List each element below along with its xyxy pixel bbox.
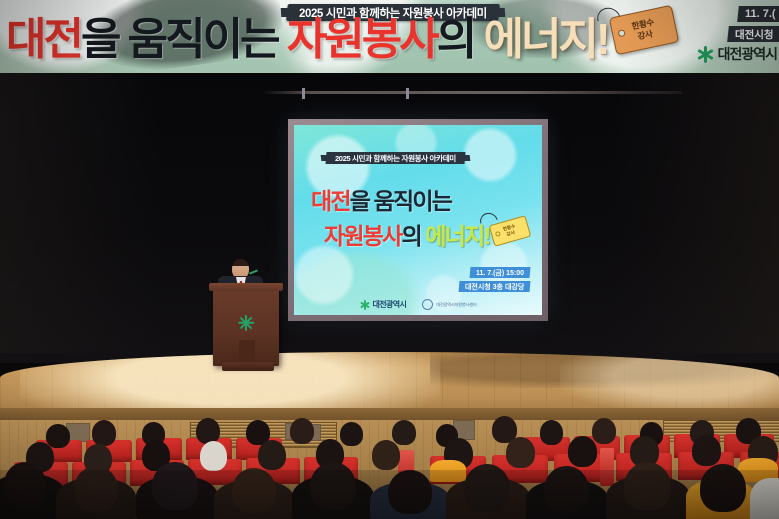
- slide-center-logo: 대전광역시자원봉사센터: [422, 299, 476, 310]
- daejeon-symbol-icon: [360, 300, 370, 310]
- audience-head: [258, 440, 286, 470]
- auditorium-photo: 2025 시민과 함께하는 자원봉사 아카데미 대전을 움직이는 자원봉사의 에…: [0, 0, 779, 519]
- slide-subtitle-text: 2025 시민과 함께하는 자원봉사 아카데미: [335, 153, 456, 164]
- slide-datetime-chip: 11. 7.(금) 15:00: [469, 267, 530, 278]
- slide-title-red-2: 자원봉사: [324, 223, 401, 249]
- slide-tag-hole-icon: [495, 231, 501, 237]
- audience-foreground-shadow: [0, 470, 779, 519]
- audience-head: [290, 418, 314, 444]
- stage-spotlight-secondary: [560, 352, 779, 412]
- slide-title-lime: 에너지!: [425, 223, 489, 249]
- slide-venue-text: 대전시청 3층 대강당: [465, 282, 524, 292]
- lighting-truss: [262, 91, 682, 94]
- audience-head: [340, 422, 363, 446]
- stage-floor: [0, 352, 779, 414]
- audience-head: [372, 440, 400, 470]
- podium-base: [222, 362, 274, 371]
- podium-top: [209, 283, 283, 291]
- daejeon-symbol-icon: [238, 315, 254, 331]
- slide-title-line-2: 자원봉사의 에너지!: [324, 217, 489, 251]
- truss-clip-icon: [406, 88, 409, 99]
- slide-title-dark-2: 의: [401, 223, 425, 249]
- slide-city-name: 대전광역시: [373, 299, 407, 310]
- projection-screen-frame: 2025 시민과 함께하는 자원봉사 아카데미 대전을 움직이는 자원봉사의 에…: [288, 119, 548, 321]
- volunteer-center-icon: [422, 299, 433, 310]
- slide-venue-chip: 대전시청 3층 대강당: [458, 281, 530, 292]
- truss-clip-icon: [302, 88, 305, 99]
- projection-screen: 2025 시민과 함께하는 자원봉사 아카데미 대전을 움직이는 자원봉사의 에…: [294, 125, 542, 315]
- audience-head: [46, 424, 70, 448]
- audience-head: [592, 418, 616, 444]
- hall-wall-right: [609, 73, 779, 353]
- audience-head: [568, 436, 597, 467]
- audience-head: [540, 420, 563, 445]
- slide-title-line-1: 대전을 움직이는: [311, 182, 451, 216]
- banner-light-shading: [0, 0, 779, 75]
- slide-title-dark-1: 을 움직이는: [350, 188, 451, 214]
- audience-head-gray-hair: [200, 441, 227, 471]
- slide-tag-role: 강사: [506, 230, 516, 238]
- slide-logo-row: 대전광역시 대전광역시자원봉사센터: [294, 299, 542, 310]
- overhead-banner: 2025 시민과 함께하는 자원봉사 아카데미 대전을 움직이는 자원봉사의 에…: [0, 0, 779, 75]
- slide-subtitle-ribbon: 2025 시민과 함께하는 자원봉사 아카데미: [325, 152, 465, 164]
- slide-datetime-text: 11. 7.(금) 15:00: [476, 268, 524, 278]
- audience-head: [692, 435, 721, 466]
- hall-wall-left: [0, 73, 160, 353]
- slide-city-logo: 대전광역시: [360, 299, 407, 310]
- audience-head: [92, 420, 116, 446]
- audience-head: [392, 420, 416, 445]
- audience-head: [196, 418, 220, 444]
- audience-head: [506, 437, 535, 468]
- slide-center-name: 대전광역시자원봉사센터: [436, 302, 476, 308]
- slide-title-red-1: 대전: [311, 188, 350, 214]
